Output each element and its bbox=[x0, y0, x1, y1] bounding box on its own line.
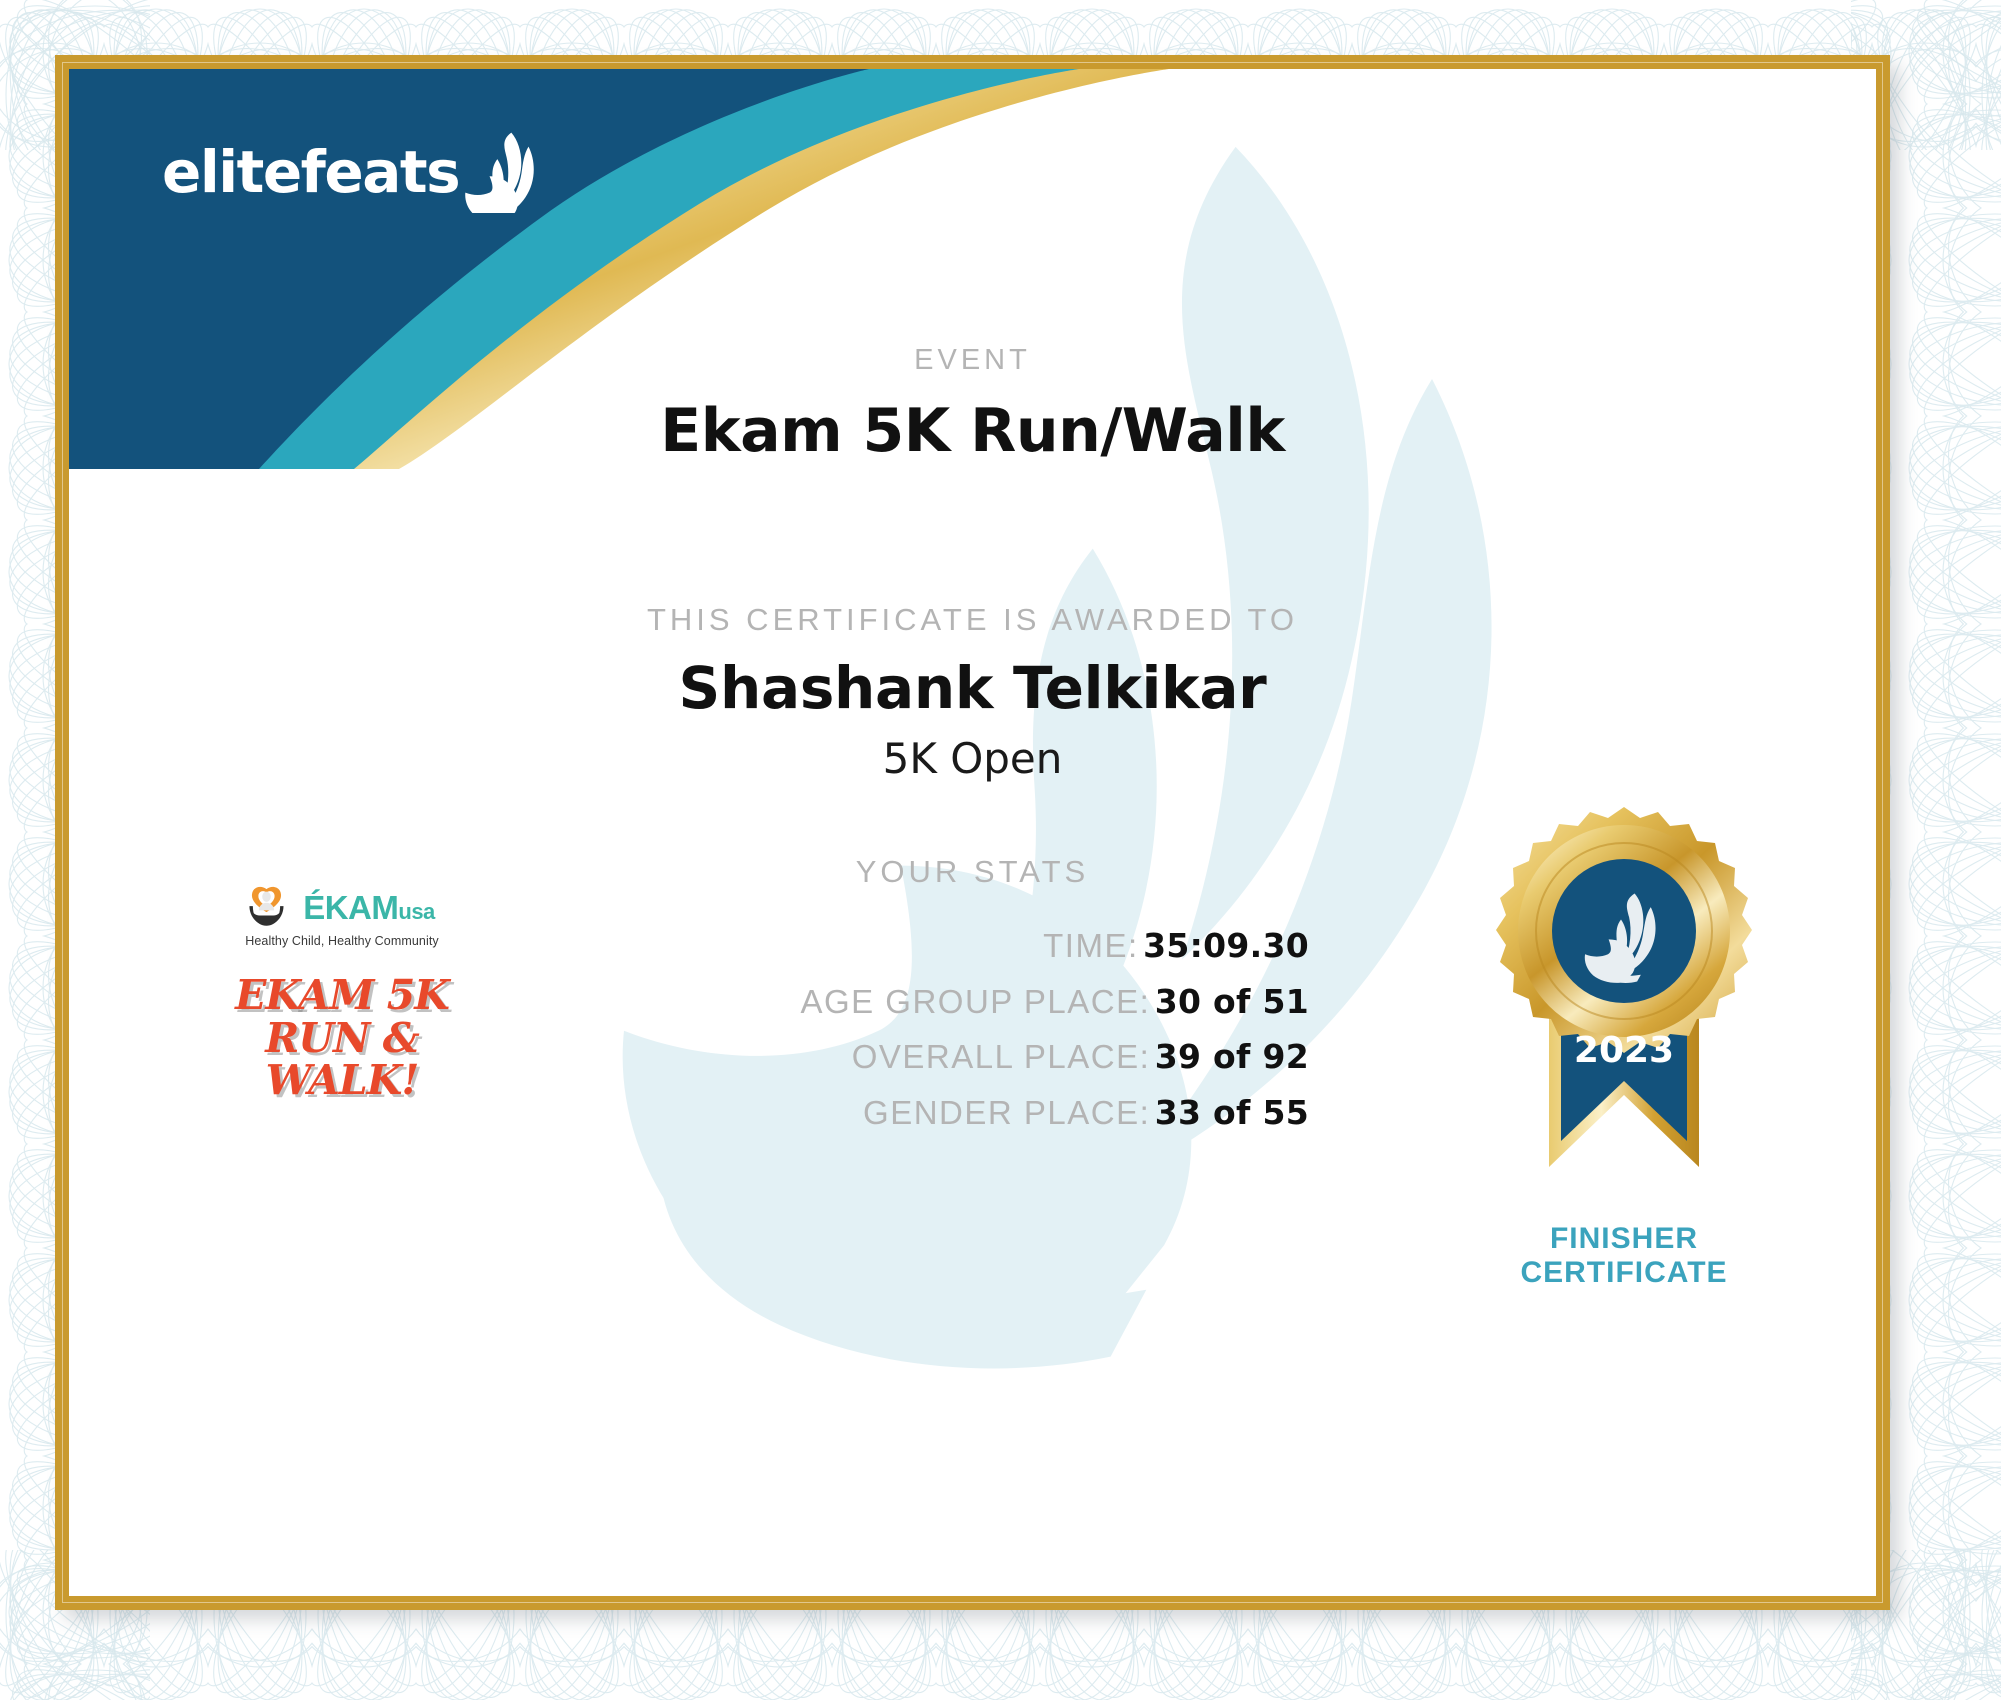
winged-foot-icon bbox=[463, 131, 541, 213]
badge-year: 2023 bbox=[1574, 1030, 1674, 1071]
stat-label: OVERALL PLACE: bbox=[852, 1038, 1151, 1075]
awarded-to-label: THIS CERTIFICATE IS AWARDED TO bbox=[69, 602, 1876, 638]
certificate-frame: elitefeats EVENT Ekam 5K Run/Walk THIS C… bbox=[55, 55, 1890, 1610]
ekam-name-suffix: usa bbox=[398, 899, 434, 924]
recipient-name: Shashank Telkikar bbox=[69, 654, 1876, 722]
certificate-page: elitefeats EVENT Ekam 5K Run/Walk THIS C… bbox=[0, 0, 2001, 1700]
ekam-event-title: EKAM 5K RUN & WALK! bbox=[197, 974, 487, 1102]
event-label: EVENT bbox=[69, 344, 1876, 377]
stat-label: TIME: bbox=[1043, 927, 1139, 964]
division-name: 5K Open bbox=[69, 734, 1876, 783]
ekam-wordmark: ÉKAMusa bbox=[303, 891, 435, 924]
stat-value: 39 of 92 bbox=[1155, 1037, 1309, 1076]
finisher-badge: 2023 FINISHER CERTIFICATE bbox=[1474, 789, 1774, 1289]
badge-caption-line1: FINISHER bbox=[1474, 1222, 1774, 1256]
stat-label: GENDER PLACE: bbox=[863, 1094, 1150, 1131]
ekam-event-line2: RUN & WALK! bbox=[197, 1017, 487, 1102]
ekam-name-main: ÉKAM bbox=[303, 889, 398, 926]
award-medal-icon: 2023 bbox=[1489, 789, 1759, 1209]
stat-label: AGE GROUP PLACE: bbox=[800, 983, 1150, 1020]
stat-value: 35:09.30 bbox=[1143, 926, 1309, 965]
sponsor-block: ÉKAMusa Healthy Child, Healthy Community… bbox=[197, 884, 487, 1102]
badge-caption: FINISHER CERTIFICATE bbox=[1474, 1222, 1774, 1289]
event-name: Ekam 5K Run/Walk bbox=[69, 396, 1876, 466]
elitefeats-logo: elitefeats bbox=[162, 131, 541, 213]
certificate-body: elitefeats EVENT Ekam 5K Run/Walk THIS C… bbox=[69, 69, 1876, 1596]
ekam-usa-logo: ÉKAMusa bbox=[197, 884, 487, 930]
ekam-tagline: Healthy Child, Healthy Community bbox=[197, 934, 487, 948]
brand-wordmark: elitefeats bbox=[162, 138, 459, 206]
stat-value: 30 of 51 bbox=[1155, 982, 1309, 1021]
ekam-event-line1: EKAM 5K bbox=[197, 974, 487, 1017]
badge-caption-line2: CERTIFICATE bbox=[1474, 1256, 1774, 1290]
stat-value: 33 of 55 bbox=[1155, 1093, 1309, 1132]
heart-hands-icon bbox=[249, 884, 301, 930]
